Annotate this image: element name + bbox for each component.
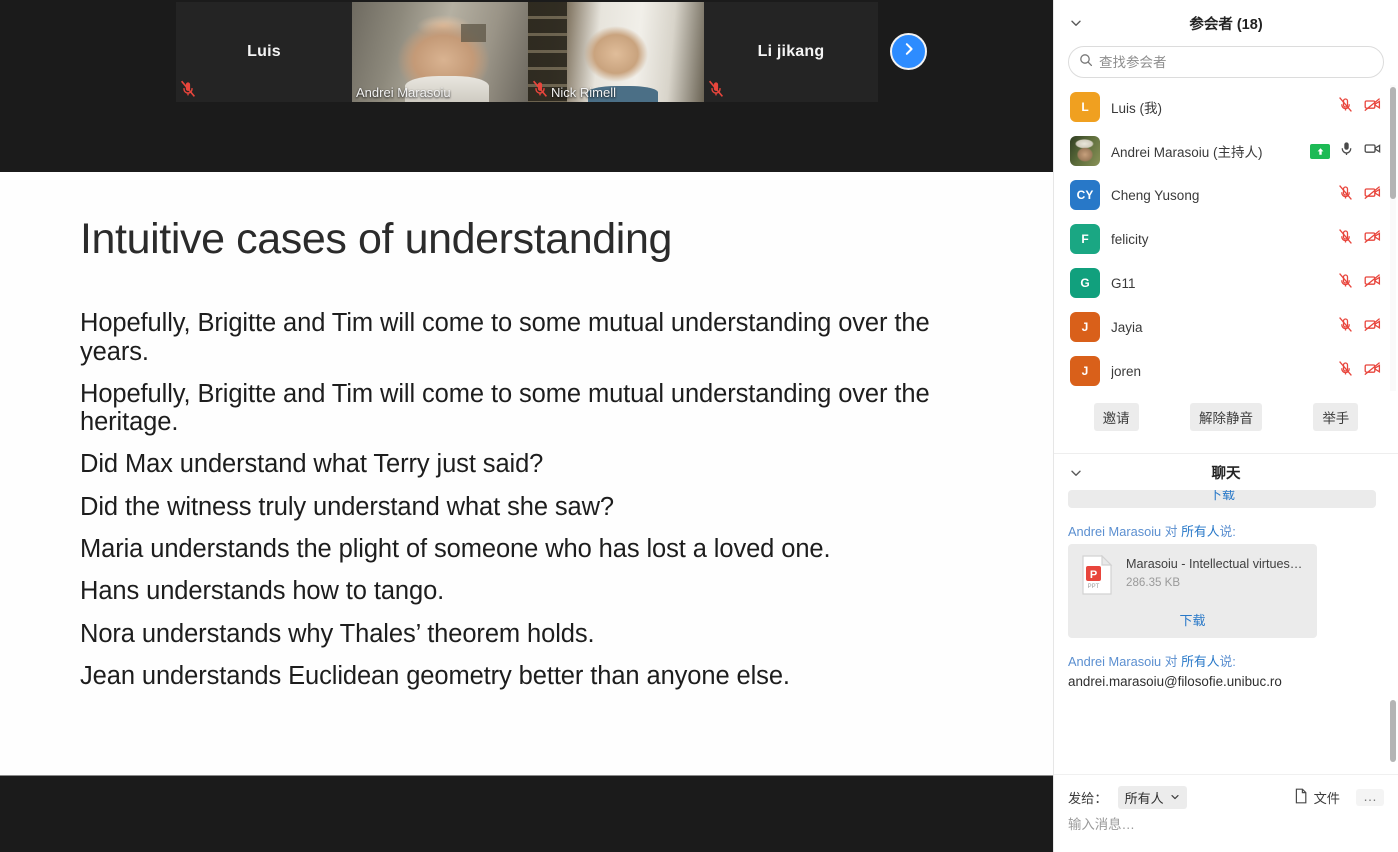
participant-status-icons — [1337, 360, 1382, 382]
svg-text:PPT: PPT — [1088, 584, 1100, 590]
participant-row-felicity[interactable]: F felicity — [1054, 217, 1398, 261]
participant-status-icons — [1337, 272, 1382, 294]
chevron-down-icon[interactable] — [1066, 13, 1086, 33]
chevron-down-icon — [1170, 790, 1180, 805]
zoom-meeting-window: Luis Andrei Marasoiu — [0, 0, 1398, 852]
camera-muted-icon[interactable] — [1363, 360, 1382, 382]
video-tile-name: Nick Rimell — [551, 85, 616, 100]
participant-row-cheng-yusong[interactable]: CY Cheng Yusong — [1054, 173, 1398, 217]
send-to-value: 所有人 — [1125, 788, 1164, 807]
chevron-down-icon[interactable] — [1066, 463, 1086, 483]
slide-body: Hopefully, Brigitte and Tim will come to… — [80, 309, 993, 690]
unmute-button[interactable]: 解除静音 — [1190, 403, 1262, 431]
participant-row-joren[interactable]: J joren — [1054, 349, 1398, 391]
chat-message-body: andrei.marasoiu@filosofie.unibuc.ro — [1068, 674, 1382, 689]
chat-composer-toolbar: 发给： 所有人 — [1068, 783, 1384, 811]
participant-row-jayia[interactable]: J Jayia — [1054, 305, 1398, 349]
chat-message-text: Andrei Marasoiu 对 所有人说: andrei.marasoiu@… — [1068, 651, 1382, 689]
slide-line: Hopefully, Brigitte and Tim will come to… — [80, 309, 993, 366]
participant-status-icons — [1337, 184, 1382, 206]
chat-composer: 发给： 所有人 — [1054, 774, 1398, 852]
avatar: J — [1070, 356, 1100, 386]
chat-sender-prefix: Andrei Marasoiu 对 — [1068, 524, 1181, 539]
participants-title: 参会者 (18) — [1189, 13, 1262, 34]
camera-muted-icon[interactable] — [1363, 316, 1382, 338]
video-filmstrip: Luis Andrei Marasoiu — [0, 0, 1053, 172]
participant-status-icons — [1337, 228, 1382, 250]
send-file-label: 文件 — [1314, 788, 1340, 807]
participants-scrollbar-thumb[interactable] — [1390, 87, 1396, 199]
participant-status-icons — [1337, 316, 1382, 338]
avatar: CY — [1070, 180, 1100, 210]
avatar: J — [1070, 312, 1100, 342]
chevron-right-icon — [902, 42, 916, 61]
clipped-file-card-download[interactable]: 下载 — [1068, 490, 1376, 508]
mic-muted-icon[interactable] — [1337, 360, 1354, 382]
participant-name: Cheng Yusong — [1111, 188, 1337, 203]
mic-icon[interactable] — [1339, 140, 1354, 162]
camera-muted-icon[interactable] — [1363, 96, 1382, 118]
participants-panel-header: 参会者 (18) — [1054, 0, 1398, 46]
chat-sender-suffix: 说: — [1219, 524, 1235, 539]
slide-line: Hans understands how to tango. — [80, 577, 993, 605]
camera-muted-icon[interactable] — [1363, 228, 1382, 250]
camera-muted-icon[interactable] — [1363, 272, 1382, 294]
chat-file-meta: Marasoiu - Intellectual virtues a… 286.3… — [1126, 555, 1305, 589]
shared-screen-stage: Luis Andrei Marasoiu — [0, 0, 1053, 852]
mic-muted-icon — [532, 80, 548, 98]
send-file-button[interactable]: 文件 — [1294, 788, 1340, 807]
mic-muted-icon[interactable] — [1337, 316, 1354, 338]
video-tile-andrei-marasoiu[interactable]: Andrei Marasoiu — [352, 2, 528, 102]
stage-letterbox-bottom — [0, 775, 1053, 852]
chat-scrollbar[interactable] — [1390, 490, 1396, 774]
participant-status-icons — [1337, 96, 1382, 118]
camera-icon[interactable] — [1363, 141, 1382, 161]
slide-line: Jean understands Euclidean geometry bett… — [80, 662, 993, 690]
slide-title: Intuitive cases of understanding — [80, 216, 993, 263]
mic-muted-icon — [180, 80, 196, 98]
chat-message-sender: Andrei Marasoiu 对 所有人说: — [1068, 651, 1382, 670]
chat-file-card[interactable]: P PPT Marasoiu - Intellectual virtues a…… — [1068, 544, 1317, 638]
mic-muted-icon[interactable] — [1337, 228, 1354, 250]
download-link[interactable]: 下载 — [1080, 610, 1305, 629]
slide-line: Maria understands the plight of someone … — [80, 535, 993, 563]
chat-scrollbar-thumb[interactable] — [1390, 700, 1396, 762]
participant-name: G11 — [1111, 276, 1337, 291]
participants-panel: 参会者 (18) L Luis (我) — [1054, 0, 1398, 453]
document-icon — [1294, 788, 1308, 807]
search-icon — [1079, 53, 1093, 72]
chat-file-size: 286.35 KB — [1126, 576, 1305, 589]
download-link[interactable]: 下载 — [1209, 490, 1235, 499]
chat-title: 聊天 — [1212, 462, 1241, 483]
avatar: L — [1070, 92, 1100, 122]
avatar: G — [1070, 268, 1100, 298]
mic-muted-icon[interactable] — [1337, 184, 1354, 206]
chat-more-options-button[interactable]: … — [1356, 789, 1384, 806]
slide-line: Did the witness truly understand what sh… — [80, 493, 993, 521]
video-tile-name: Luis — [247, 43, 281, 61]
svg-text:P: P — [1090, 569, 1097, 581]
chat-file-name: Marasoiu - Intellectual virtues a… — [1126, 557, 1305, 571]
video-tile-luis[interactable]: Luis — [176, 2, 352, 102]
participants-action-buttons: 邀请 解除静音 举手 — [1054, 391, 1398, 443]
chat-message-input[interactable] — [1068, 817, 1384, 832]
participant-status-icons — [1310, 140, 1382, 162]
chat-message-file: Andrei Marasoiu 对 所有人说: P PPT — [1068, 521, 1382, 638]
video-tile-name: Andrei Marasoiu — [356, 85, 451, 100]
participants-list[interactable]: L Luis (我) — [1054, 85, 1398, 391]
chat-sender-target: 所有人 — [1181, 524, 1219, 539]
shared-slide: Intuitive cases of understanding Hopeful… — [0, 172, 1053, 775]
participants-scrollbar[interactable] — [1390, 85, 1396, 391]
chat-file-row: P PPT Marasoiu - Intellectual virtues a…… — [1080, 555, 1305, 600]
slide-line: Did Max understand what Terry just said? — [80, 450, 993, 478]
search-box[interactable] — [1068, 46, 1384, 78]
search-input[interactable] — [1099, 55, 1373, 70]
mic-muted-icon[interactable] — [1337, 96, 1354, 118]
avatar: F — [1070, 224, 1100, 254]
chat-message-list[interactable]: 下载 Andrei Marasoiu 对 所有人说: — [1054, 490, 1398, 774]
participant-row-andrei-marasoiu[interactable]: Andrei Marasoiu (主持人) — [1054, 129, 1398, 173]
participant-name: joren — [1111, 364, 1337, 379]
video-tile-name: Li jikang — [758, 43, 825, 61]
chat-sender-target: 所有人 — [1181, 654, 1219, 669]
powerpoint-file-icon: P PPT — [1080, 555, 1114, 600]
filmstrip-next-page-button[interactable] — [890, 33, 927, 70]
chat-sender-prefix: Andrei Marasoiu 对 — [1068, 654, 1181, 669]
mic-muted-icon[interactable] — [1337, 272, 1354, 294]
participant-name: felicity — [1111, 232, 1337, 247]
side-panels: 参会者 (18) L Luis (我) — [1053, 0, 1398, 852]
chat-panel-header: 聊天 — [1054, 454, 1398, 490]
chat-message-sender: Andrei Marasoiu 对 所有人说: — [1068, 521, 1382, 540]
participant-name: Jayia — [1111, 320, 1337, 335]
participant-name: Andrei Marasoiu (主持人) — [1111, 141, 1310, 161]
camera-muted-icon[interactable] — [1363, 184, 1382, 206]
send-to-label: 发给： — [1068, 788, 1108, 807]
participant-row-luis[interactable]: L Luis (我) — [1054, 85, 1398, 129]
participant-name: Luis (我) — [1111, 97, 1337, 117]
participants-search — [1054, 46, 1398, 78]
mic-muted-icon — [708, 80, 724, 98]
slide-line: Hopefully, Brigitte and Tim will come to… — [80, 380, 993, 437]
slide-line: Nora understands why Thales’ theorem hol… — [80, 620, 993, 648]
video-tile-nick-rimell[interactable]: Nick Rimell — [528, 2, 704, 102]
send-to-dropdown[interactable]: 所有人 — [1118, 786, 1187, 809]
chat-sender-suffix: 说: — [1219, 654, 1235, 669]
invite-button[interactable]: 邀请 — [1094, 403, 1139, 431]
participant-row-g11[interactable]: G G11 — [1054, 261, 1398, 305]
avatar — [1070, 136, 1100, 166]
chat-panel: 聊天 下载 Andrei Marasoiu 对 所有人说: — [1054, 453, 1398, 852]
video-tile-li-jikang[interactable]: Li jikang — [704, 2, 878, 102]
screen-share-icon — [1310, 144, 1330, 159]
raise-hand-button[interactable]: 举手 — [1313, 403, 1358, 431]
